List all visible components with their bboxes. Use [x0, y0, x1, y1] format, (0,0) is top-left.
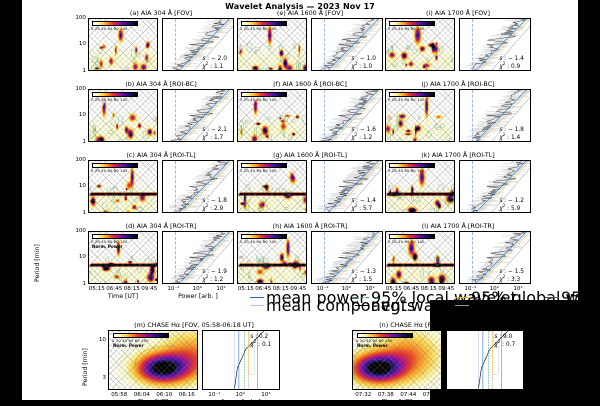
- colorbar: [241, 21, 287, 26]
- colorbar: [389, 234, 435, 239]
- reference-vline: [324, 19, 325, 70]
- fit-annotation-f: s : − 1.6χ2 : 1.2: [351, 127, 376, 141]
- chi2-value: 5.9: [511, 206, 520, 212]
- period-tick: 100: [66, 15, 86, 21]
- chi2-value: 5.7: [363, 206, 372, 212]
- colorbar: [389, 163, 435, 168]
- chi2-value: 0.1: [262, 342, 271, 348]
- time-tick: 09:45: [137, 286, 161, 292]
- power-tick: 10¹: [498, 392, 522, 398]
- chi2-value: 1.2: [363, 135, 372, 141]
- colorbar-ticks: 0 20 40 60 80 100: [356, 339, 393, 343]
- panel-title-k: (k) AIA 1700 Å [ROI-TL]: [379, 151, 537, 159]
- period-tick: 1: [66, 68, 86, 74]
- panel-title-c: (c) AIA 304 Å [ROI-TL]: [82, 151, 240, 159]
- time-tick: 06:10: [152, 392, 176, 398]
- period-tick: 10: [66, 183, 86, 189]
- colorbar-label: Norm. Power: [113, 343, 144, 348]
- colorbar-ticks: 0 20 40 60 80 100: [240, 27, 277, 31]
- period-tick: 10: [66, 112, 86, 118]
- legend-entry-6: 95% global Fourier: [545, 288, 600, 307]
- colorbar-ticks: 0 20 40 60 80 100: [388, 240, 425, 244]
- colorbar: [241, 92, 287, 97]
- reference-vline: [175, 90, 176, 141]
- time-tick: 07:50: [419, 392, 443, 398]
- power-axis-label: Power [arb. ]: [196, 399, 286, 406]
- panel-title-g: (g) AIA 1600 Å [ROI-TL]: [231, 151, 389, 159]
- colorbar-label: Norm. Power: [92, 244, 123, 249]
- fit-annotation-e: s : − 1.0χ2 : 1.0: [351, 56, 376, 70]
- colorbar-ticks: 0 20 40 60 80 100: [240, 240, 277, 244]
- fit-annotation-b: s : − 2.1χ2 : 1.7: [202, 127, 227, 141]
- colorbar-ticks: 0 20 40 60 80 100: [91, 98, 128, 102]
- main-period-axis-label: Period [min]: [34, 244, 41, 282]
- period-tick: 3: [88, 375, 106, 381]
- legend-swatch: [545, 297, 559, 298]
- legend-label: 95% global Fourier: [561, 288, 600, 307]
- time-tick: 07:32: [351, 392, 375, 398]
- fit-annotation-c: s : − 1.8χ2 : 2.9: [202, 198, 227, 212]
- panel-title-a: (a) AIA 304 Å [FOV]: [82, 9, 240, 17]
- power-tick: 10⁻²: [162, 286, 186, 292]
- panel-title-h: (h) AIA 1600 Å [ROI-TR]: [231, 222, 389, 230]
- period-tick: 100: [66, 86, 86, 92]
- chi2-value: 1.4: [511, 135, 520, 141]
- chi2-value: 2.9: [214, 206, 223, 212]
- chi2-value: 1.5: [363, 277, 372, 283]
- legend-swatch: [355, 305, 369, 306]
- reference-vline: [472, 161, 473, 212]
- chi2-value: 0.7: [506, 342, 515, 348]
- reference-vline: [472, 19, 473, 70]
- fit-annotation-n: s : 9.0χ2 : 0.7: [494, 334, 515, 348]
- time-tick: 07:44: [396, 392, 420, 398]
- colorbar-label: Norm. Power: [357, 343, 388, 348]
- fit-annotation-h: s : − 1.3χ2 : 1.5: [351, 269, 376, 283]
- reference-vline: [472, 232, 473, 283]
- chi2-value: 0.9: [511, 64, 520, 70]
- colorbar-ticks: 0 20 40 60 80 100: [91, 27, 128, 31]
- fit-annotation-i: s : − 1.4χ2 : 0.9: [499, 56, 524, 70]
- panel-title-i: (i) AIA 1700 Å [FOV]: [379, 9, 537, 17]
- time-tick: 06:16: [175, 392, 199, 398]
- period-tick: 1: [66, 139, 86, 145]
- colorbar-ticks: 0 20 40 60 80 100: [112, 339, 149, 343]
- power-axis-label: Power [arb. ]: [440, 399, 530, 406]
- reference-vline: [175, 161, 176, 212]
- colorbar: [92, 21, 138, 26]
- panel-title-j: (j) AIA 1700 Å [ROI-BC]: [379, 80, 537, 88]
- reference-vline: [175, 232, 176, 283]
- time-tick: 05:58: [107, 392, 131, 398]
- power-tick: 10⁰: [185, 286, 209, 292]
- panel-title-n: (n) CHASE Hα [FOV, 07:32-07:53 UT]: [338, 321, 538, 329]
- colorbar-ticks: 0 20 40 60 80 100: [388, 169, 425, 173]
- power-tick: 10²: [209, 286, 233, 292]
- period-tick: 100: [66, 157, 86, 163]
- time-axis-label: Time [UT]: [102, 399, 204, 406]
- panel-title-d: (d) AIA 304 Å [ROI-TR]: [82, 222, 240, 230]
- power-tick: 10⁻¹: [446, 392, 470, 398]
- fit-annotation-l: s : − 1.5χ2 : 3.3: [499, 269, 524, 283]
- time-axis-label: Time [UT]: [82, 293, 164, 300]
- power-tick: 10⁰: [472, 392, 496, 398]
- colorbar-ticks: 0 20 40 60 80 100: [388, 98, 425, 102]
- legend-swatch: [455, 305, 469, 306]
- chi2-value: 1.0: [363, 64, 372, 70]
- colorbar-ticks: 0 20 40 60 80 100: [91, 240, 128, 244]
- time-axis-label: Time [UT]: [346, 399, 448, 406]
- chi2-value: 3.3: [511, 277, 520, 283]
- reference-vline: [472, 90, 473, 141]
- panel-title-m: (m) CHASE Hα [FOV, 05:58-06:18 UT]: [94, 321, 294, 329]
- time-tick: 07:38: [374, 392, 398, 398]
- panel-title-f: (f) AIA 1600 Å [ROI-BC]: [231, 80, 389, 88]
- panel-title-b: (b) AIA 304 Å [ROI-BC]: [82, 80, 240, 88]
- fit-annotation-j: s : − 1.8χ2 : 1.4: [499, 127, 524, 141]
- colorbar: [92, 234, 138, 239]
- reference-vline: [324, 232, 325, 283]
- reference-vline: [324, 161, 325, 212]
- colorbar-ticks: 0 20 40 60 80 100: [240, 169, 277, 173]
- chi2-value: 1.2: [214, 277, 223, 283]
- letterbox-left: [0, 0, 22, 400]
- power-axis-label: Power [arb. ]: [156, 293, 240, 300]
- panel-title-e: (e) AIA 1600 Å [FOV]: [231, 9, 389, 17]
- period-tick: 1: [66, 281, 86, 287]
- power-tick: 10¹: [254, 392, 278, 398]
- power-tick: 10⁰: [228, 392, 252, 398]
- colorbar: [357, 333, 413, 338]
- reference-vline: [175, 19, 176, 70]
- period-tick: 10: [66, 254, 86, 260]
- colorbar: [92, 163, 138, 168]
- panel-title-l: (l) AIA 1700 Å [ROI-TR]: [379, 222, 537, 230]
- fit-annotation-m: s : 0.2χ2 : 0.1: [250, 334, 271, 348]
- wavelet-analysis-figure: Wavelet Analysis — 2023 Nov 17 (a) AIA 3…: [0, 0, 600, 400]
- colorbar-ticks: 0 20 40 60 80 100: [388, 27, 425, 31]
- colorbar: [113, 333, 169, 338]
- fit-annotation-a: s : − 2.0χ2 : 1.1: [202, 56, 227, 70]
- fit-annotation-g: s : − 1.4χ2 : 5.7: [351, 198, 376, 212]
- period-tick: 10: [66, 41, 86, 47]
- colorbar: [389, 92, 435, 97]
- legend-swatch: [250, 305, 264, 306]
- colorbar-ticks: 0 20 40 60 80 100: [91, 169, 128, 173]
- reference-vline: [324, 90, 325, 141]
- colorbar: [241, 234, 287, 239]
- power-tick: 10⁻¹: [202, 392, 226, 398]
- period-tick: 1: [66, 210, 86, 216]
- period-axis-label: Period [min]: [82, 348, 89, 386]
- colorbar-ticks: 0 20 40 60 80 100: [240, 98, 277, 102]
- period-tick: 100: [66, 228, 86, 234]
- fit-annotation-k: s : − 1.2χ2 : 5.9: [499, 198, 524, 212]
- colorbar: [92, 92, 138, 97]
- time-tick: 06:04: [130, 392, 154, 398]
- period-tick: 10: [88, 337, 106, 343]
- colorbar: [389, 21, 435, 26]
- chi2-value: 1.7: [214, 135, 223, 141]
- fit-annotation-d: s : − 1.9χ2 : 1.2: [202, 269, 227, 283]
- chi2-value: 1.1: [214, 64, 223, 70]
- colorbar: [241, 163, 287, 168]
